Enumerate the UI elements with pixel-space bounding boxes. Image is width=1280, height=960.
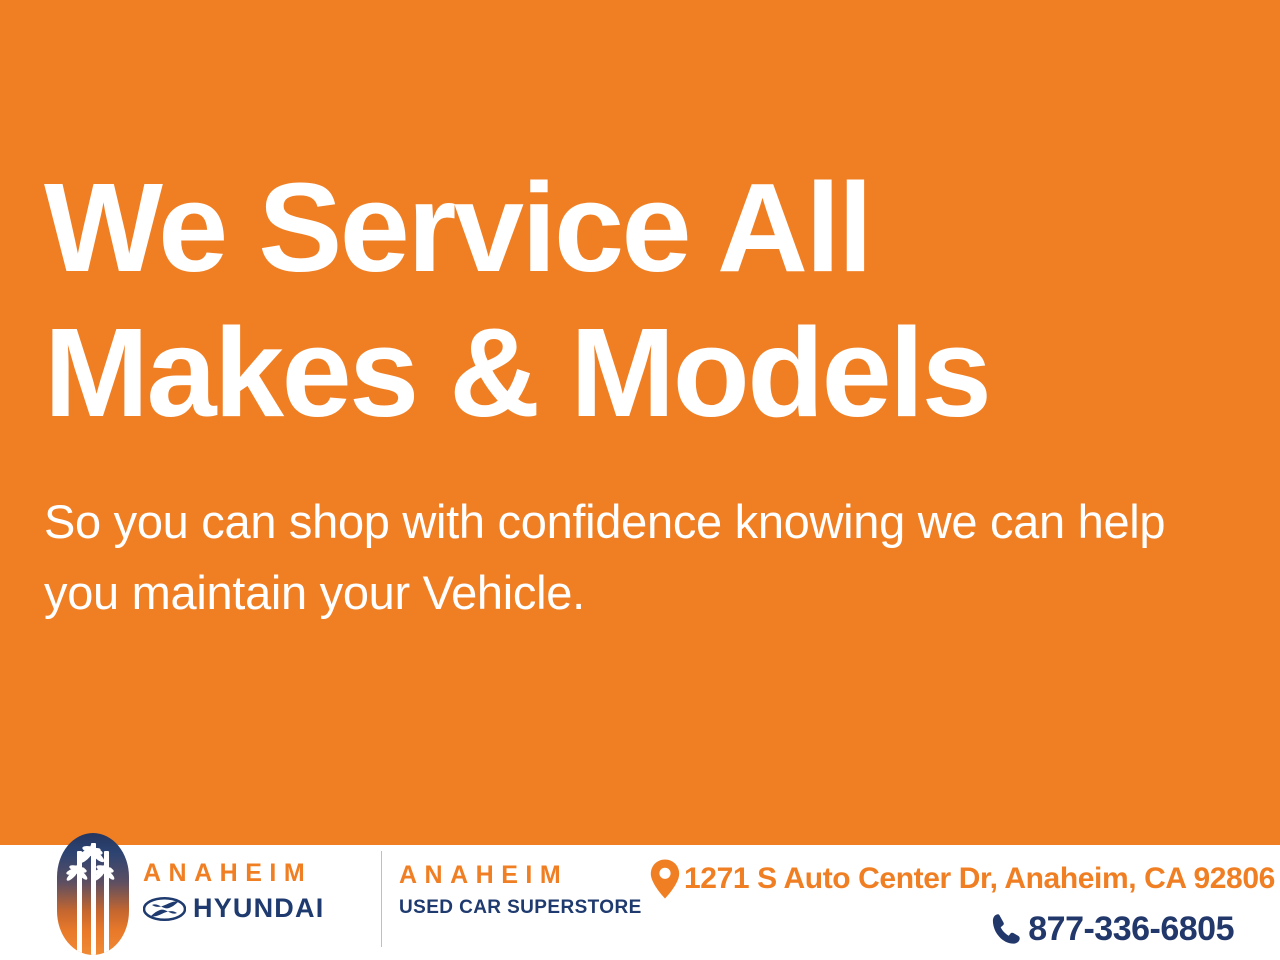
logo-divider [381, 851, 382, 947]
anaheim-hyundai-logo[interactable]: ANAHEIM HYUNDAI [143, 861, 365, 922]
phone-handset-icon [992, 913, 1022, 945]
superstore-brand-top: ANAHEIM [399, 863, 625, 888]
headline-line-1: We Service All [44, 168, 1244, 289]
service-promo-banner: We Service All Makes & Models So you can… [0, 0, 1280, 960]
phone-row[interactable]: 877-336-6805 [650, 912, 1236, 946]
dealership-phone: 877-336-6805 [1028, 912, 1234, 946]
anaheim-used-car-superstore-logo[interactable]: ANAHEIM USED CAR SUPERSTORE [399, 863, 625, 917]
footer-bar: ANAHEIM HYUNDAI ANAHEIM USED CAR SUPERST… [0, 845, 1280, 960]
hero-copy-block: We Service All Makes & Models So you can… [44, 168, 1244, 629]
superstore-tagline: USED CAR SUPERSTORE [399, 898, 625, 917]
subheadline: So you can shop with confidence knowing … [44, 434, 1204, 629]
contact-block: 1271 S Auto Center Dr, Anaheim, CA 92806… [650, 859, 1236, 946]
palm-trees-badge-icon [57, 833, 129, 955]
hyundai-oval-h-icon [143, 897, 186, 921]
map-pin-icon [650, 859, 680, 899]
hyundai-wordmark: HYUNDAI [193, 895, 324, 922]
dealership-address: 1271 S Auto Center Dr, Anaheim, CA 92806 [684, 864, 1275, 894]
headline-line-2: Makes & Models [44, 313, 1244, 434]
address-row[interactable]: 1271 S Auto Center Dr, Anaheim, CA 92806 [650, 859, 1236, 899]
anaheim-hyundai-brand-top: ANAHEIM [143, 861, 365, 886]
